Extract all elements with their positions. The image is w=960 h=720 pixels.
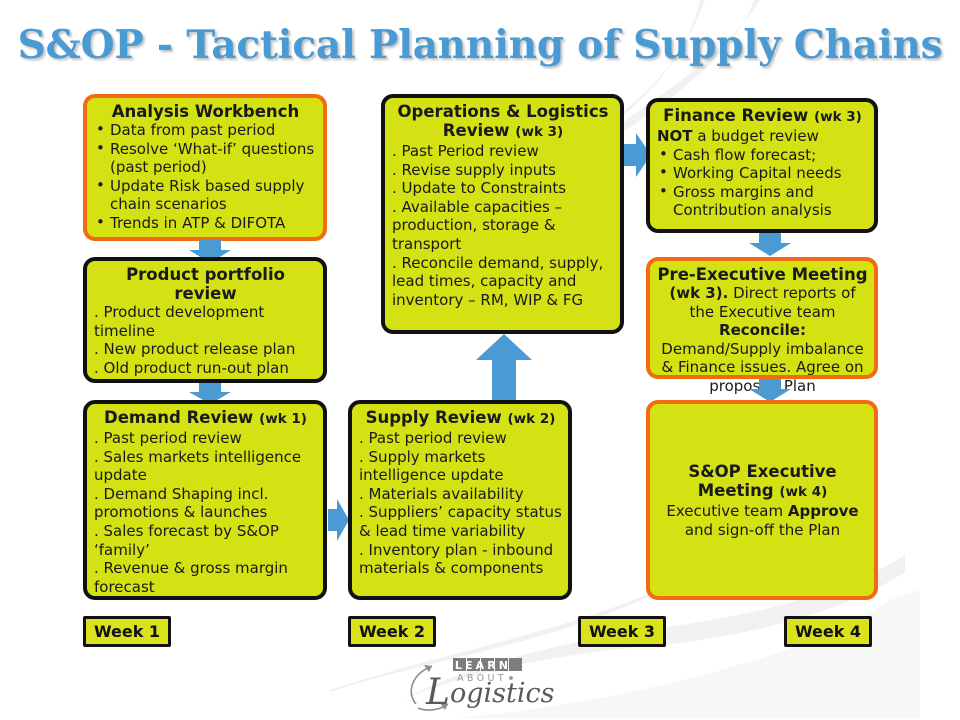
body-pre: Executive team	[666, 502, 787, 520]
list-item: . Product development timeline	[94, 303, 317, 340]
box-title-text: Finance Review	[663, 106, 808, 125]
arrow-right-demand-to-supply	[328, 497, 350, 543]
slide-canvas: S&OP - Tactical Planning of Supply Chain…	[0, 0, 960, 720]
box-title-text: Operations & Logistics Review	[398, 102, 609, 140]
week-chip-label: Week 4	[795, 622, 861, 641]
week-chip-label: Week 1	[94, 622, 160, 641]
learn-about-logistics-logo: LEARN ABOUT L ogistics	[398, 652, 568, 714]
body-line-2-emphasis: Reconcile:	[719, 321, 806, 339]
box-analysis-workbench[interactable]: Analysis Workbench Data from past period…	[83, 94, 327, 241]
box-title-text: Supply Review	[366, 408, 502, 427]
list-item: . Sales markets intelligence update	[94, 448, 317, 485]
list-item: . Available capacities – production, sto…	[392, 198, 614, 254]
box-body: . Past Period review . Revise supply inp…	[392, 142, 614, 309]
box-week-tag: (wk 4)	[779, 484, 827, 500]
bullet-list: Data from past period Resolve ‘What-if’ …	[94, 121, 317, 233]
week-chip-2[interactable]: Week 2	[348, 616, 436, 647]
box-title: Pre-Executive Meeting	[657, 265, 868, 284]
list-item: Working Capital needs	[657, 164, 868, 183]
box-week-tag: (wk 3)	[515, 124, 563, 140]
logo-word-logistics: ogistics	[450, 678, 555, 709]
box-week-tag: (wk 1)	[259, 411, 307, 427]
list-item: . Sales forecast by S&OP ‘family’	[94, 522, 317, 559]
list-item: . Supply markets intelligence update	[359, 448, 562, 485]
box-supply-review[interactable]: Supply Review (wk 2) . Past period revie…	[348, 400, 572, 600]
box-subtitle: NOT a budget review	[657, 127, 868, 146]
list-item: . Demand Shaping incl. promotions & laun…	[94, 485, 317, 522]
box-subtitle-emphasis: NOT	[657, 127, 693, 145]
arrow-down-finance-to-pre-executive	[748, 233, 792, 257]
week-chip-label: Week 2	[359, 622, 425, 641]
list-item: Resolve ‘What-if’ questions (past period…	[94, 140, 317, 177]
box-title: Demand Review (wk 1)	[94, 408, 317, 429]
box-body: . Past period review . Sales markets int…	[94, 429, 317, 596]
page-title: S&OP - Tactical Planning of Supply Chain…	[0, 22, 960, 68]
list-item: . Old product run-out plan	[94, 359, 317, 378]
list-item: Cash flow forecast;	[657, 146, 868, 165]
body-line-1: (wk 3). Direct reports of the Executive …	[657, 284, 868, 321]
week-chip-1[interactable]: Week 1	[83, 616, 171, 647]
box-subtitle-rest: a budget review	[693, 127, 819, 145]
list-item: . Suppliers’ capacity status & lead time…	[359, 503, 562, 540]
box-title: Finance Review (wk 3)	[657, 106, 868, 127]
box-pre-executive-meeting[interactable]: Pre-Executive Meeting (wk 3). Direct rep…	[646, 257, 878, 379]
box-demand-review[interactable]: Demand Review (wk 1) . Past period revie…	[83, 400, 327, 600]
list-item: . Update to Constraints	[392, 179, 614, 198]
body-line-1-emphasis: (wk 3).	[669, 284, 728, 302]
list-item: . Revenue & gross margin forecast	[94, 559, 317, 596]
list-item: . Inventory plan - inbound materials & c…	[359, 541, 562, 578]
list-item: . Reconcile demand, supply, lead times, …	[392, 254, 614, 310]
box-product-portfolio-review[interactable]: Product portfolio review . Product devel…	[83, 257, 327, 383]
week-chip-label: Week 3	[589, 622, 655, 641]
week-chip-4[interactable]: Week 4	[784, 616, 872, 647]
body-post: and sign-off the Plan	[685, 521, 840, 539]
box-operations-logistics-review[interactable]: Operations & Logistics Review (wk 3) . P…	[381, 94, 624, 334]
box-title: Product portfolio review	[94, 265, 317, 303]
arrow-up-supply-to-operations	[474, 334, 534, 402]
list-item: . Materials availability	[359, 485, 562, 504]
week-chip-3[interactable]: Week 3	[578, 616, 666, 647]
list-item: . Revise supply inputs	[392, 161, 614, 180]
box-title-text: Demand Review	[104, 408, 253, 427]
box-week-tag: (wk 2)	[508, 411, 556, 427]
box-body: . Product development timeline . New pro…	[94, 303, 317, 377]
box-title: Analysis Workbench	[94, 102, 317, 121]
box-body: . Past period review . Supply markets in…	[359, 429, 562, 578]
box-finance-review[interactable]: Finance Review (wk 3) NOT a budget revie…	[646, 98, 878, 233]
box-title: Supply Review (wk 2)	[359, 408, 562, 429]
logo-script-initial: L	[425, 672, 450, 713]
list-item: . Past Period review	[392, 142, 614, 161]
box-body: Executive team Approve and sign-off the …	[657, 502, 868, 539]
box-title: Operations & Logistics Review (wk 3)	[392, 102, 614, 142]
list-item: . Past period review	[359, 429, 562, 448]
box-week-tag: (wk 3)	[814, 109, 862, 125]
logo-word-learn: LEARN	[455, 659, 511, 672]
list-item: . Past period review	[94, 429, 317, 448]
list-item: . New product release plan	[94, 340, 317, 359]
list-item: Update Risk based supply chain scenarios	[94, 177, 317, 214]
box-sop-executive-meeting[interactable]: S&OP Executive Meeting (wk 4) Executive …	[646, 400, 878, 600]
list-item: Data from past period	[94, 121, 317, 140]
bullet-list: Cash flow forecast; Working Capital need…	[657, 146, 868, 220]
list-item: Trends in ATP & DIFOTA	[94, 214, 317, 233]
list-item: Gross margins and Contribution analysis	[657, 183, 868, 220]
box-title: S&OP Executive Meeting (wk 4)	[657, 462, 868, 502]
body-emphasis: Approve	[788, 502, 859, 520]
